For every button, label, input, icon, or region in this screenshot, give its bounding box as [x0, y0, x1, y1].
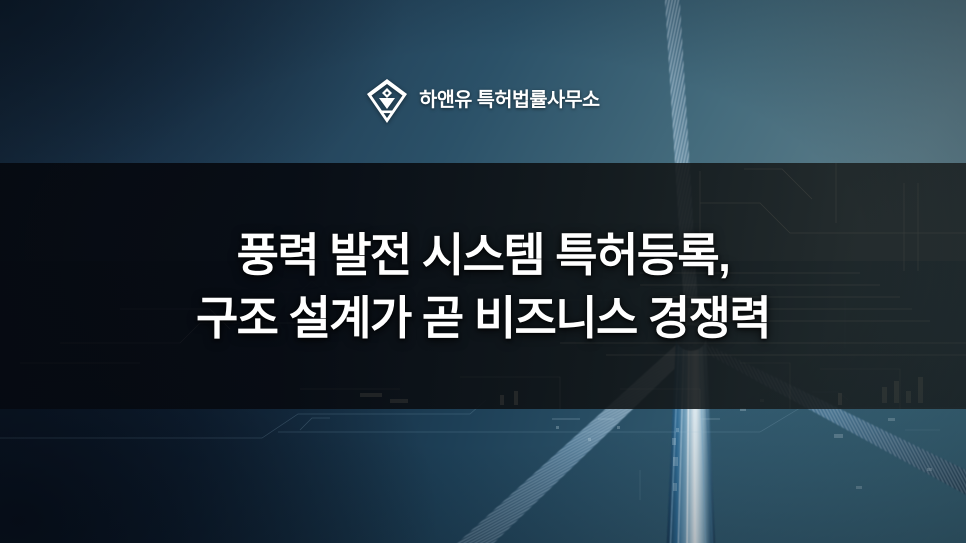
- logo-wordmark: 하앤유 특허법률사무소: [419, 91, 599, 111]
- logo-lockup: 하앤유 특허법률사무소: [0, 78, 966, 124]
- headline-line-2: 구조 설계가 곧 비즈니스 경쟁력: [40, 287, 926, 350]
- hero-banner: 하앤유 특허법률사무소 풍력 발전 시스템 특허등록, 구조 설계가 곧 비즈니…: [0, 0, 966, 543]
- headline-line-1: 풍력 발전 시스템 특허등록,: [40, 224, 926, 287]
- headline-block: 풍력 발전 시스템 특허등록, 구조 설계가 곧 비즈니스 경쟁력: [0, 224, 966, 350]
- haenu-diamond-emblem-icon: [366, 78, 408, 124]
